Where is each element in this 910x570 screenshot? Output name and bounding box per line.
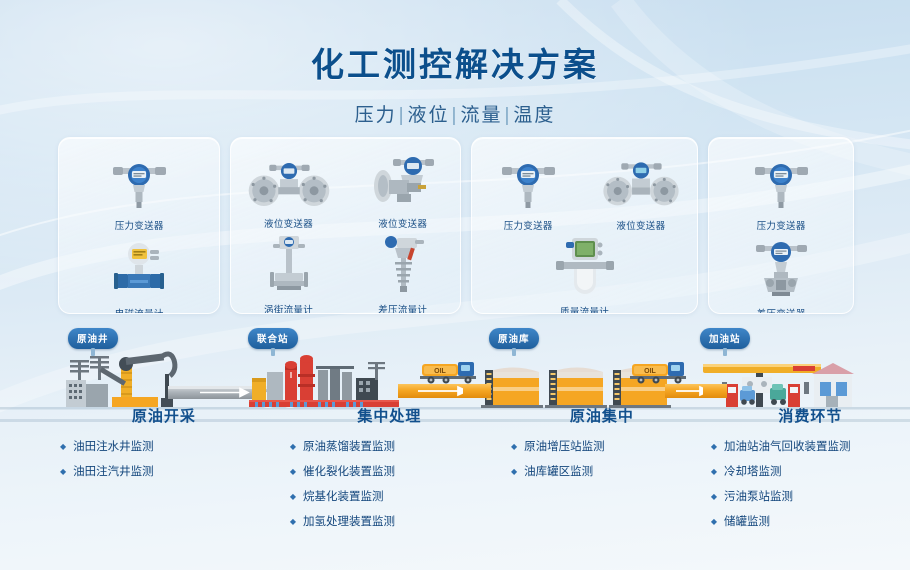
- list-item-label: 污油泵站监测: [724, 488, 793, 504]
- product-item[interactable]: 液位变送器: [598, 152, 684, 232]
- column-item-list: ◆原油蒸馏装置监测 ◆催化裂化装置监测 ◆烷基化装置监测 ◆加氢处理装置监测: [290, 438, 489, 529]
- list-item-label: 冷却塔监测: [724, 463, 782, 479]
- pressure-transmitter-icon: [738, 152, 824, 212]
- product-label: 质量流量计: [542, 304, 628, 314]
- product-item[interactable]: 电磁流量计: [96, 240, 182, 314]
- bullet-diamond-icon: ◆: [60, 442, 66, 451]
- column-central-processing: 集中处理 ◆原油蒸馏装置监测 ◆催化裂化装置监测 ◆烷基化装置监测 ◆加氢处理装…: [268, 405, 489, 538]
- badge-combined-station: 联合站: [248, 328, 298, 349]
- column-heading: 消费环节: [711, 405, 910, 426]
- product-label: 压力变送器: [485, 218, 571, 232]
- subtitle-item-3: 温度: [513, 105, 555, 126]
- subtitle-item-1: 液位: [408, 105, 450, 126]
- column-item-list: ◆加油站油气回收装置监测 ◆冷却塔监测 ◆污油泵站监测 ◆储罐监测: [711, 438, 910, 529]
- bullet-diamond-icon: ◆: [511, 442, 517, 451]
- bullet-diamond-icon: ◆: [511, 467, 517, 476]
- svg-text:OIL: OIL: [644, 368, 656, 375]
- list-item-label: 加氢处理装置监测: [303, 513, 395, 529]
- product-item[interactable]: 质量流量计: [542, 238, 628, 314]
- list-item-label: 原油蒸馏装置监测: [303, 438, 395, 454]
- list-item-label: 油田注水井监测: [73, 438, 154, 454]
- product-item[interactable]: 压力变送器: [485, 152, 571, 232]
- differential-pressure-flowmeter-icon: [360, 236, 446, 296]
- product-label: 压力变送器: [738, 218, 824, 232]
- tanker-truck: OIL: [630, 362, 686, 384]
- column-heading: 集中处理: [290, 405, 489, 426]
- list-item: ◆加氢处理装置监测: [290, 513, 489, 529]
- differential-pressure-transmitter-icon: [738, 240, 824, 300]
- product-label: 液位变送器: [360, 216, 446, 230]
- poster-stage: 化工测控解决方案 压力|液位|流量|温度: [0, 0, 910, 570]
- level-transmitter-single-flange-icon: [360, 150, 446, 210]
- product-item[interactable]: 压力变送器: [738, 152, 824, 232]
- column-crude-oil-collection: 原油集中 ◆原油增压站监测 ◆油库罐区监测: [489, 405, 693, 538]
- product-label: 压力变送器: [96, 218, 182, 232]
- bullet-diamond-icon: ◆: [290, 467, 296, 476]
- header: 化工测控解决方案 压力|液位|流量|温度: [0, 38, 910, 127]
- list-item: ◆烷基化装置监测: [290, 488, 489, 504]
- product-label: 差压变送器: [738, 306, 824, 314]
- tanker-truck: OIL: [420, 362, 476, 384]
- vortex-flowmeter-icon: [246, 236, 332, 296]
- badge-gas-station: 加油站: [700, 328, 750, 349]
- page-title: 化工测控解决方案: [0, 38, 910, 86]
- product-card-1[interactable]: 压力变送器: [58, 137, 220, 314]
- list-item: ◆加油站油气回收装置监测: [711, 438, 910, 454]
- list-item: ◆原油增压站监测: [511, 438, 693, 454]
- bullet-diamond-icon: ◆: [711, 442, 717, 451]
- list-item-label: 催化裂化装置监测: [303, 463, 395, 479]
- detail-columns: 原油开采 ◆油田注水井监测 ◆油田注汽井监测 集中处理 ◆原油蒸馏装置监测 ◆催…: [0, 405, 910, 538]
- product-item[interactable]: 差压流量计: [360, 236, 446, 314]
- level-transmitter-flange-icon: [246, 150, 332, 210]
- page-subtitle: 压力|液位|流量|温度: [0, 100, 910, 127]
- list-item: ◆油田注水井监测: [60, 438, 268, 454]
- svg-text:OIL: OIL: [434, 368, 446, 375]
- bullet-diamond-icon: ◆: [711, 517, 717, 526]
- list-item: ◆油田注汽井监测: [60, 463, 268, 479]
- badge-crude-oil-well: 原油井: [68, 328, 118, 349]
- bullet-diamond-icon: ◆: [711, 492, 717, 501]
- list-item: ◆冷却塔监测: [711, 463, 910, 479]
- product-item[interactable]: 涡街流量计: [246, 236, 332, 314]
- list-item-label: 烷基化装置监测: [303, 488, 384, 504]
- pressure-transmitter-icon: [96, 152, 182, 212]
- column-consumption: 消费环节 ◆加油站油气回收装置监测 ◆冷却塔监测 ◆污油泵站监测 ◆储罐监测: [693, 405, 910, 538]
- list-item: ◆原油蒸馏装置监测: [290, 438, 489, 454]
- product-item[interactable]: 液位变送器: [246, 150, 332, 230]
- electromagnetic-flowmeter-icon: [96, 240, 182, 300]
- product-label: 液位变送器: [246, 216, 332, 230]
- bullet-diamond-icon: ◆: [290, 492, 296, 501]
- column-crude-oil-extraction: 原油开采 ◆油田注水井监测 ◆油田注汽井监测: [0, 405, 268, 538]
- list-item: ◆污油泵站监测: [711, 488, 910, 504]
- level-transmitter-flange-icon: [598, 152, 684, 212]
- product-item[interactable]: 液位变送器: [360, 150, 446, 230]
- list-item-label: 油田注汽井监测: [73, 463, 154, 479]
- product-card-3[interactable]: 压力变送器: [471, 137, 698, 314]
- list-item: ◆催化裂化装置监测: [290, 463, 489, 479]
- list-item: ◆储罐监测: [711, 513, 910, 529]
- product-card-2[interactable]: 液位变送器: [230, 137, 460, 314]
- product-label: 差压流量计: [360, 302, 446, 314]
- bullet-diamond-icon: ◆: [711, 467, 717, 476]
- list-item-label: 加油站油气回收装置监测: [724, 438, 851, 454]
- subtitle-separator: |: [502, 105, 513, 126]
- column-heading: 原油开采: [60, 405, 268, 426]
- list-item-label: 储罐监测: [724, 513, 770, 529]
- product-label: 涡街流量计: [246, 302, 332, 314]
- product-item[interactable]: 差压变送器: [738, 240, 824, 314]
- product-item[interactable]: 压力变送器: [96, 152, 182, 232]
- column-heading: 原油集中: [511, 405, 693, 426]
- mass-flowmeter-icon: [542, 238, 628, 298]
- bullet-diamond-icon: ◆: [290, 517, 296, 526]
- bullet-diamond-icon: ◆: [290, 442, 296, 451]
- list-item-label: 原油增压站监测: [524, 438, 605, 454]
- column-item-list: ◆油田注水井监测 ◆油田注汽井监测: [60, 438, 268, 479]
- list-item: ◆油库罐区监测: [511, 463, 693, 479]
- subtitle-separator: |: [397, 105, 408, 126]
- product-label: 电磁流量计: [96, 306, 182, 314]
- product-card-4[interactable]: 压力变送器: [708, 137, 854, 314]
- subtitle-item-0: 压力: [355, 105, 397, 126]
- subtitle-item-2: 流量: [460, 105, 502, 126]
- column-item-list: ◆原油增压站监测 ◆油库罐区监测: [511, 438, 693, 479]
- product-card-row: 压力变送器: [58, 137, 854, 314]
- list-item-label: 油库罐区监测: [524, 463, 593, 479]
- badge-crude-oil-depot: 原油库: [489, 328, 539, 349]
- bullet-diamond-icon: ◆: [60, 467, 66, 476]
- product-label: 液位变送器: [598, 218, 684, 232]
- pressure-transmitter-icon: [485, 152, 571, 212]
- subtitle-separator: |: [450, 105, 461, 126]
